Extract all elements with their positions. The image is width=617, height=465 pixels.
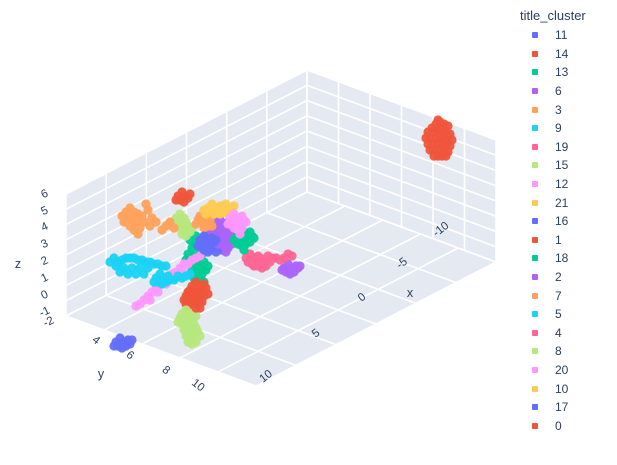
legend-item-18[interactable]: 18 [512, 249, 617, 268]
z-tick-3: 3 [39, 237, 50, 251]
data-point [433, 115, 442, 124]
legend-item-label: 13 [555, 66, 568, 78]
z-tick-5: 5 [39, 204, 50, 218]
legend-swatch-icon [532, 423, 538, 429]
x-axis-title: x [407, 286, 414, 300]
data-point [153, 287, 162, 296]
z-axis-title: z [15, 257, 21, 271]
legend-item-label: 12 [555, 178, 568, 190]
legend-item-11[interactable]: 11 [512, 26, 617, 45]
data-point [203, 247, 212, 256]
data-point [221, 247, 230, 256]
legend-swatch-icon [532, 88, 538, 94]
legend-item-16[interactable]: 16 [512, 212, 617, 231]
data-point [173, 317, 182, 326]
y-tick-4: 4 [90, 334, 103, 348]
legend-swatch-icon [532, 255, 538, 261]
legend-item-label: 21 [555, 197, 568, 209]
legend-item-1[interactable]: 1 [512, 231, 617, 250]
data-point [203, 289, 212, 298]
y-tick-8: 8 [160, 364, 172, 377]
data-point [211, 235, 220, 244]
data-point [295, 261, 304, 270]
legend-item-label: 17 [555, 401, 568, 413]
legend-item-label: 3 [555, 104, 562, 116]
data-point [195, 303, 204, 312]
data-point [123, 269, 132, 278]
data-point [277, 265, 286, 274]
legend-swatch-icon [532, 218, 538, 224]
data-point [249, 233, 258, 242]
data-point [143, 205, 152, 214]
data-point [157, 225, 166, 234]
legend-swatch-icon [532, 311, 538, 317]
y-tick-10: 10 [189, 377, 206, 394]
legend-item-label: 16 [555, 215, 568, 227]
legend-item-label: 4 [555, 327, 562, 339]
legend-title: title_cluster [512, 4, 617, 26]
legend-swatch-icon [532, 125, 538, 131]
data-point [191, 311, 200, 320]
data-point [195, 331, 204, 340]
legend-item-8[interactable]: 8 [512, 342, 617, 361]
data-point [441, 151, 450, 160]
legend-item-label: 18 [555, 252, 568, 264]
legend-item-4[interactable]: 4 [512, 324, 617, 343]
data-point [199, 205, 208, 214]
data-point [145, 221, 154, 230]
y-axis-title: y [98, 367, 105, 381]
data-point [241, 217, 250, 226]
legend-item-0[interactable]: 0 [512, 416, 617, 435]
legend-swatch-icon [532, 237, 538, 243]
legend-item-label: 8 [555, 345, 562, 357]
legend-item-17[interactable]: 17 [512, 398, 617, 417]
data-point [139, 269, 148, 278]
data-point [131, 301, 140, 310]
legend-item-7[interactable]: 7 [512, 286, 617, 305]
data-point [191, 219, 200, 228]
data-point [169, 223, 178, 232]
legend-item-label: 6 [555, 85, 562, 97]
data-point [161, 261, 170, 270]
data-point [203, 261, 212, 270]
z-tick-2: 2 [39, 254, 50, 268]
data-point [109, 341, 118, 350]
data-point [185, 189, 194, 198]
legend-swatch-icon [532, 386, 538, 392]
legend-item-10[interactable]: 10 [512, 379, 617, 398]
legend-swatch-icon [532, 107, 538, 113]
data-point [131, 269, 140, 278]
legend-item-label: 9 [555, 122, 562, 134]
data-point [229, 201, 238, 210]
legend-swatch-icon [532, 200, 538, 206]
z-tick-0: 0 [39, 288, 50, 302]
data-point [115, 267, 124, 276]
data-point [249, 261, 258, 270]
legend-swatch-icon [532, 32, 538, 38]
legend-item-3[interactable]: 3 [512, 100, 617, 119]
z-tick-1: 1 [39, 271, 50, 285]
data-point [185, 269, 194, 278]
data-point [207, 221, 216, 230]
legend-item-5[interactable]: 5 [512, 305, 617, 324]
data-point [235, 229, 244, 238]
legend-item-label: 19 [555, 141, 568, 153]
legend-item-21[interactable]: 21 [512, 193, 617, 212]
data-point [169, 275, 178, 284]
data-point [149, 277, 158, 286]
data-point [239, 245, 248, 254]
legend-item-label: 5 [555, 308, 562, 320]
legend-swatch-icon [532, 51, 538, 57]
legend-swatch-icon [532, 330, 538, 336]
data-point [287, 251, 296, 260]
legend-swatch-icon [532, 274, 538, 280]
legend-item-14[interactable]: 14 [512, 45, 617, 64]
data-point [279, 253, 288, 262]
legend-item-label: 11 [555, 29, 567, 41]
legend-swatch-icon [532, 162, 538, 168]
legend-items[interactable]: 1114136391915122116118275482010170 [512, 26, 617, 435]
legend-swatch-icon [532, 293, 538, 299]
legend-item-label: 15 [555, 159, 568, 171]
legend-item-13[interactable]: 13 [512, 63, 617, 82]
data-point [145, 295, 154, 304]
legend-item-label: 14 [555, 48, 568, 60]
data-point [183, 287, 192, 296]
legend-item-2[interactable]: 2 [512, 268, 617, 287]
legend-item-label: 0 [555, 420, 562, 432]
data-point [127, 335, 136, 344]
legend-item-label: 1 [555, 234, 562, 246]
data-point [217, 205, 226, 214]
legend-item-19[interactable]: 19 [512, 138, 617, 157]
legend-item-9[interactable]: 9 [512, 119, 617, 138]
z-tick-4: 4 [39, 220, 50, 234]
legend-item-label: 2 [555, 271, 562, 283]
legend[interactable]: title_cluster 11141363919151221161182754… [512, 4, 617, 454]
data-point [223, 219, 232, 228]
legend-item-20[interactable]: 20 [512, 361, 617, 380]
legend-item-15[interactable]: 15 [512, 156, 617, 175]
legend-item-label: 7 [555, 290, 562, 302]
legend-swatch-icon [532, 69, 538, 75]
legend-swatch-icon [532, 348, 538, 354]
legend-item-label: 10 [555, 383, 568, 395]
z-tick--2: -2 [42, 315, 56, 330]
legend-swatch-icon [532, 181, 538, 187]
legend-swatch-icon [532, 367, 538, 373]
legend-item-12[interactable]: 12 [512, 175, 617, 194]
legend-swatch-icon [532, 144, 538, 150]
legend-item-6[interactable]: 6 [512, 82, 617, 101]
data-point [171, 195, 180, 204]
data-point [133, 229, 142, 238]
z-tick-6: 6 [39, 187, 50, 201]
legend-swatch-icon [532, 404, 538, 410]
legend-item-label: 20 [555, 364, 568, 376]
